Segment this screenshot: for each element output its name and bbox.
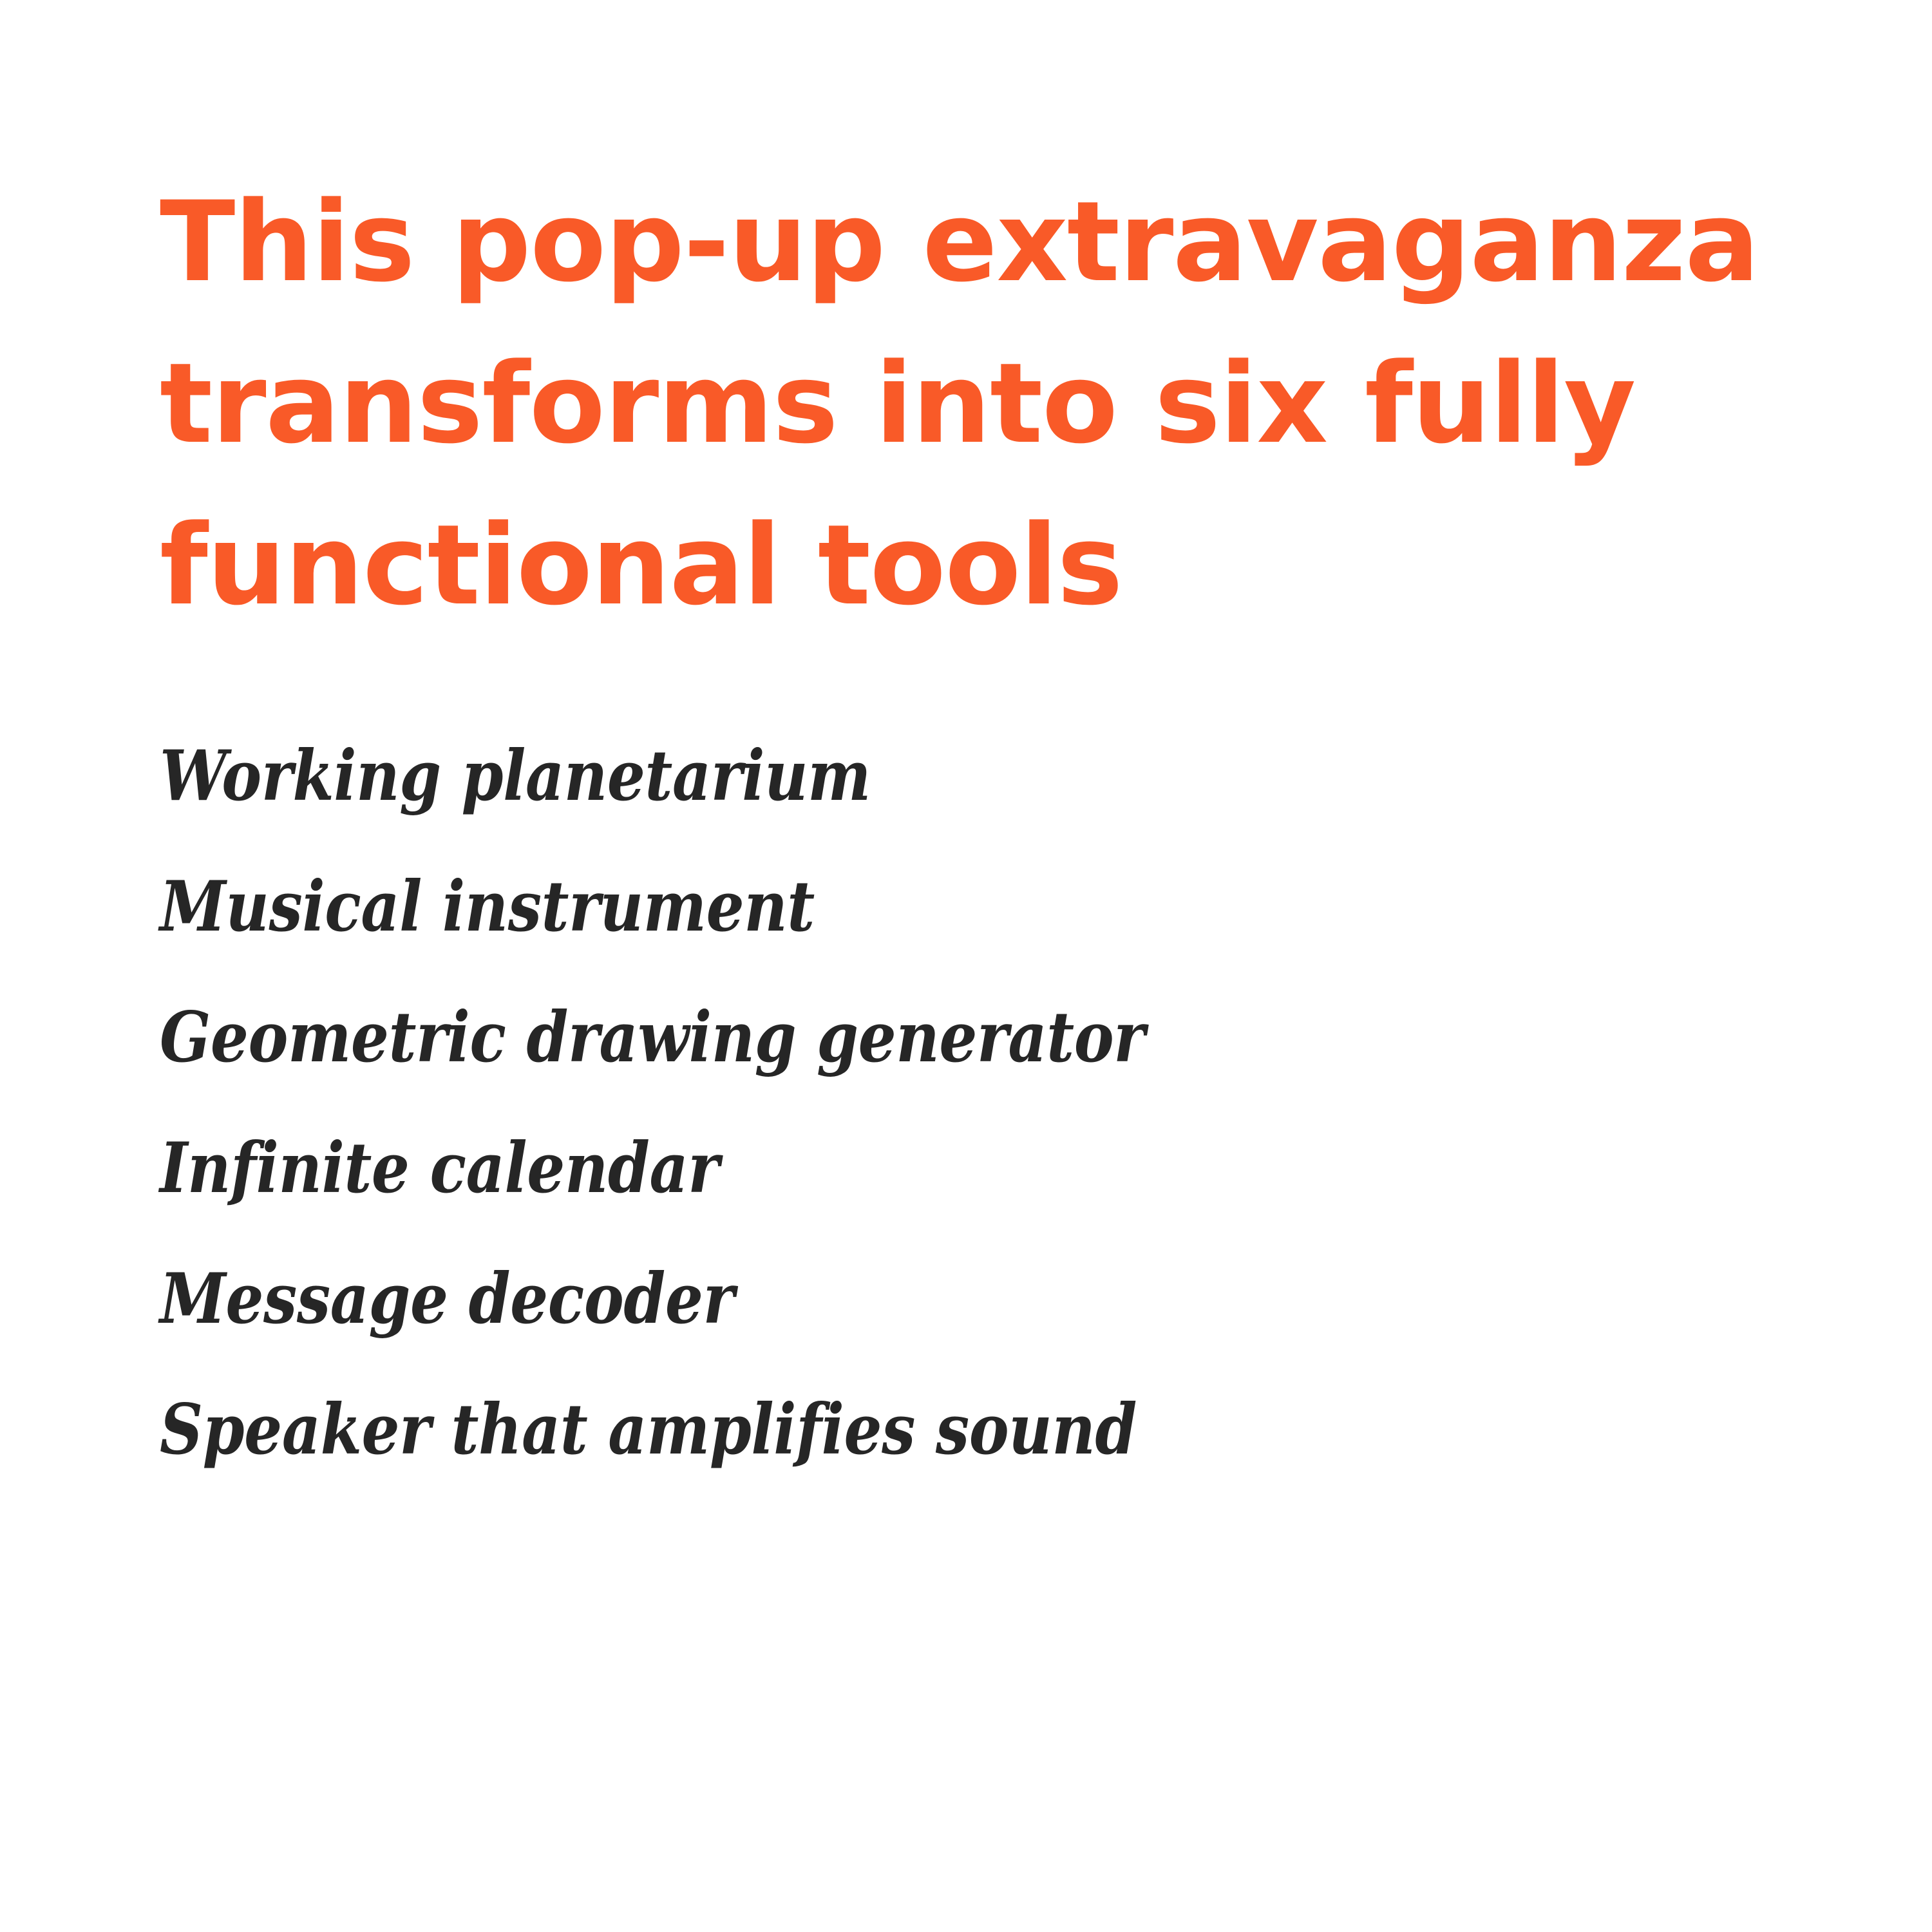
headline-line-1: This pop-up extravaganza [160,161,1654,323]
list-item: Infinite calendar [160,1133,1489,1203]
list-item: Working planetarium [160,741,1489,811]
list-item: Musical instrument [160,872,1489,942]
feature-list: Working planetarium Musical instrument G… [160,741,1705,1464]
page-title: This pop-up extravaganza transforms into… [160,161,1654,646]
list-item: Message decoder [160,1264,1489,1334]
list-item: Speaker that amplifies sound [160,1395,1489,1464]
slide-canvas: This pop-up extravaganza transforms into… [0,0,1932,1932]
content-container: This pop-up extravaganza transforms into… [160,161,1705,1464]
list-item: Geometric drawing generator [160,1003,1489,1072]
headline-line-3: functional tools [160,484,1654,646]
headline-line-2: transforms into six fully [160,323,1654,484]
